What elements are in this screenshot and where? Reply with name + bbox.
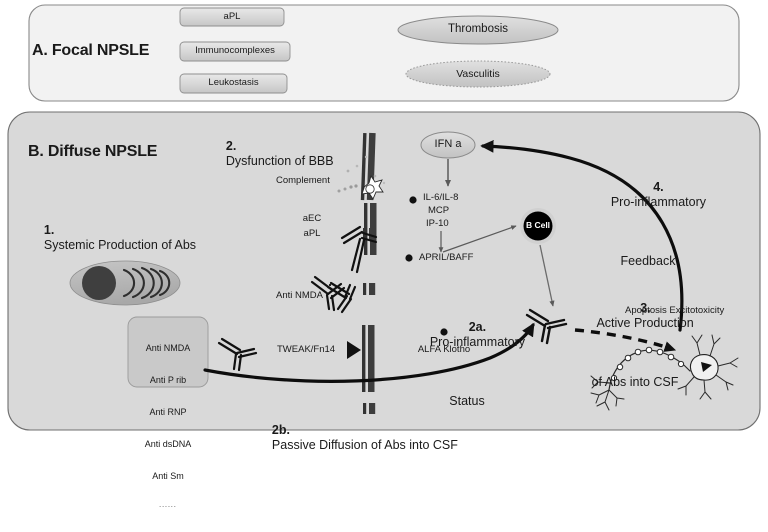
complement-label: Complement <box>276 175 330 186</box>
april-baff-label: APRIL/BAFF <box>419 252 473 263</box>
autoantibody-item: Anti Sm <box>128 471 208 482</box>
step-4-line1: 4. Pro-inflammatory <box>563 166 733 225</box>
step-2-text: Dysfunction of BBB <box>226 154 334 168</box>
autoantibody-item: Anti NMDA <box>128 343 208 354</box>
cytokine-bullet <box>409 196 416 203</box>
step-4: 4. Pro-inflammatory Feedback <box>563 136 733 298</box>
step-2a-number: 2a. <box>469 320 486 334</box>
autoantibody-item: Anti dsDNA <box>128 439 208 450</box>
alfa-klotho-label: ALFA Klotho <box>404 344 484 355</box>
step-2a-line2: Status <box>392 394 542 409</box>
step-1-number: 1. <box>44 223 54 237</box>
anti-nmda-label: Anti NMDA <box>276 290 323 301</box>
step-3-line2: of Abs into CSF <box>555 375 715 390</box>
step-2b-number: 2b. <box>272 423 290 437</box>
step-4-number: 4. <box>653 180 663 194</box>
autoantibody-item: Anti RNP <box>128 407 208 418</box>
ifn-alpha-label: IFN a <box>421 138 475 151</box>
b-cell-label: B Cell <box>518 220 558 230</box>
aec-label: aEC <box>295 213 329 224</box>
step-4-text: Pro-inflammatory <box>611 195 706 209</box>
cytokine-label-il6-il8: IL-6/IL-8 <box>423 192 458 203</box>
figure-canvas: A. Focal NPSLE aPL Immunocomplexes Leuko… <box>0 0 768 444</box>
panel-a-title: A. Focal NPSLE <box>32 42 149 61</box>
plasma-cell <box>70 261 180 305</box>
tweak-fn14-label: TWEAK/Fn14 <box>277 344 335 355</box>
step-2b-text: Passive Diffusion of Abs into CSF <box>272 438 458 452</box>
autoantibody-item: ...... <box>128 502 208 510</box>
autoantibody-item: Anti P rib <box>128 375 208 386</box>
step-1: 1. Systemic Production of Abs <box>30 208 196 267</box>
step-2-number: 2. <box>226 139 236 153</box>
step-2a-line1: 2a. Pro-inflammatory <box>392 306 542 365</box>
panel-a-box-apl-label: aPL <box>180 11 284 22</box>
cytokine-label-mcp: MCP <box>428 205 449 216</box>
step-2b: 2b. Passive Diffusion of Abs into CSF <box>258 408 458 467</box>
panel-a-outcome-vasculitis-label: Vasculitis <box>406 68 550 80</box>
panel-a-box-leukostasis-label: Leukostasis <box>180 77 287 88</box>
panel-a-outcome-thrombosis-label: Thrombosis <box>398 23 558 37</box>
panel-b-title: B. Diffuse NPSLE <box>28 143 157 162</box>
apl-label: aPL <box>295 228 329 239</box>
step-4-line2: Feedback <box>563 254 733 269</box>
step-3-text: Active Production <box>596 316 693 330</box>
panel-a-box-immunocomplexes-label: Immunocomplexes <box>180 45 290 56</box>
cytokine-label-ip10: IP-10 <box>426 218 449 229</box>
april-baff-bullet <box>405 254 412 261</box>
autoantibody-list: Anti NMDA Anti P rib Anti RNP Anti dsDNA… <box>128 322 208 532</box>
apoptosis-excitotoxicity-label: Apoptosis Excitotoxicity <box>625 305 724 316</box>
step-1-text: Systemic Production of Abs <box>44 238 196 252</box>
